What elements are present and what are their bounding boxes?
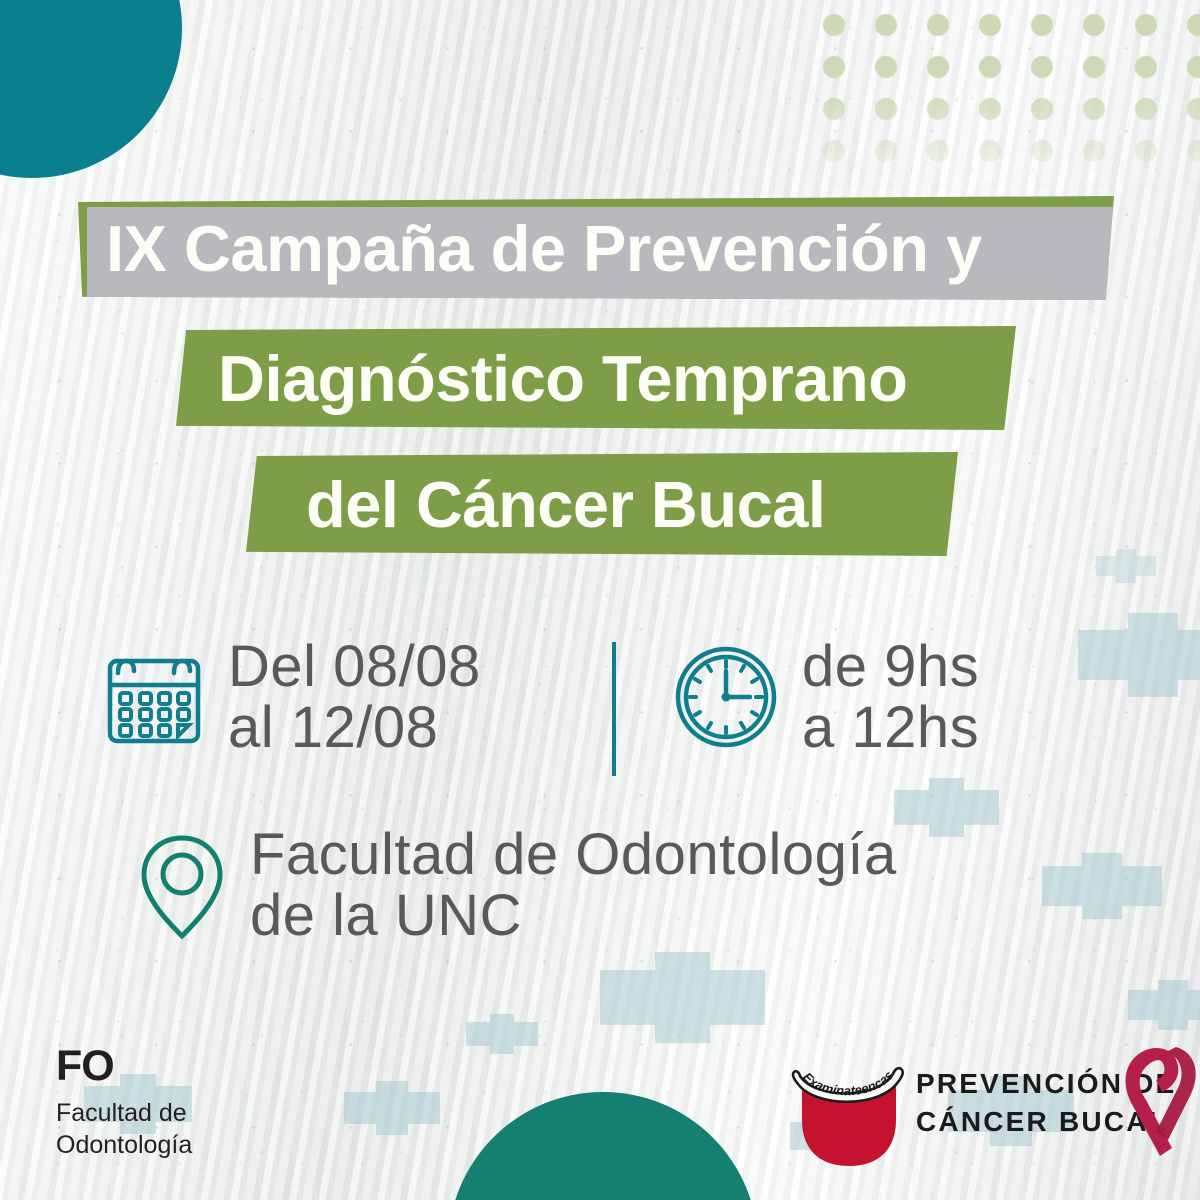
faculty-logo-line-1: Facultad de <box>56 1097 192 1129</box>
decorative-cross-icon <box>1096 556 1156 576</box>
decorative-circle-bottom <box>448 1092 758 1200</box>
place-line-1: Facultad de Odontología <box>250 824 897 885</box>
decorative-cross-icon <box>1042 866 1162 906</box>
title-line-1: IX Campaña de Prevención y <box>106 211 982 286</box>
title-banner-1: IX Campaña de Prevención y <box>78 196 1114 300</box>
decorative-cross-icon <box>1078 630 1200 680</box>
faculty-logo: FO Facultad de Odontología <box>56 1042 192 1161</box>
decorative-circle-top-left <box>0 0 182 178</box>
title-banner-3: del Cáncer Bucal <box>246 452 958 556</box>
decorative-cross-icon <box>1128 990 1200 1020</box>
faculty-logo-line-2: Odontología <box>56 1129 192 1161</box>
place-info-block: Facultad de Odontología de la UNC <box>128 824 897 947</box>
time-line-1: de 9hs <box>802 636 979 697</box>
title-line-2: Diagnóstico Temprano <box>218 341 907 416</box>
calendar-icon <box>98 641 210 753</box>
time-line-2: a 12hs <box>802 697 979 758</box>
title-banner-2: Diagnóstico Temprano <box>176 326 1016 430</box>
decorative-cross-icon <box>600 970 765 1025</box>
info-divider <box>612 642 616 776</box>
campaign-logo: #Examinateencasa PREVENCIÓN DE CÁNCER BU… <box>786 1036 1186 1186</box>
poster-canvas: IX Campaña de Prevención y Diagnóstico T… <box>0 0 1200 1200</box>
awareness-ribbon-icon <box>1116 1044 1196 1174</box>
decorative-cross-icon <box>466 1022 538 1046</box>
date-info-block: Del 08/08 al 12/08 <box>98 636 481 759</box>
decorative-dot-grid <box>800 0 1200 190</box>
date-line-1: Del 08/08 <box>228 636 481 697</box>
clock-icon <box>668 639 784 755</box>
location-pin-icon <box>128 824 236 946</box>
title-line-3: del Cáncer Bucal <box>306 467 825 542</box>
faculty-logo-mark: FO <box>56 1042 192 1091</box>
campaign-hashtag: #Examinateencasa <box>786 1042 910 1174</box>
place-line-2: de la UNC <box>250 885 897 946</box>
time-info-block: de 9hs a 12hs <box>668 636 979 759</box>
svg-text:#Examinateencasa: #Examinateencasa <box>786 1042 896 1098</box>
decorative-cross-icon <box>894 790 999 825</box>
decorative-cross-icon <box>344 1092 440 1124</box>
date-line-2: al 12/08 <box>228 697 481 758</box>
